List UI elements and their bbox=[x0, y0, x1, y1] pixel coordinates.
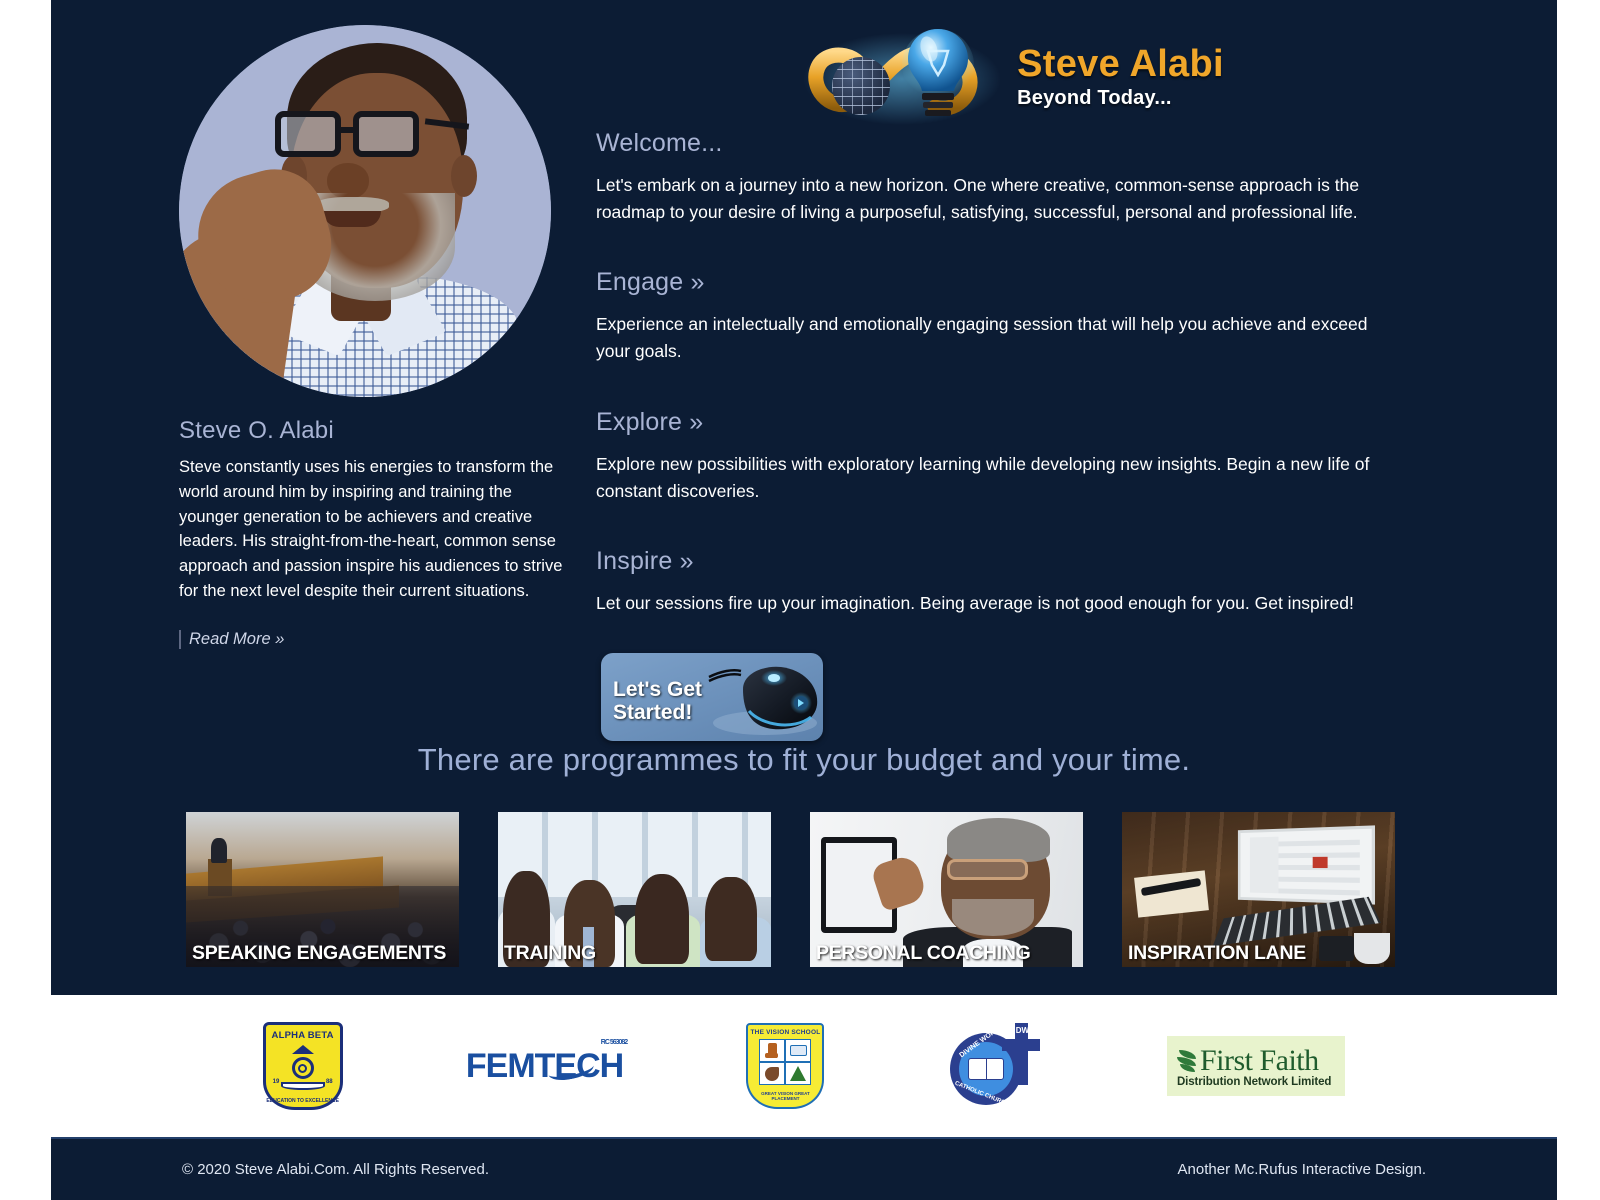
book-icon bbox=[281, 1082, 325, 1090]
partner-logo-vision-school[interactable]: THE VISION SCHOOL GREAT VISION GREAT PLA… bbox=[746, 1023, 824, 1109]
section-welcome-body: Let's embark on a journey into a new hor… bbox=[596, 172, 1386, 226]
first-faith-logo-icon: First Faith Distribution Network Limited bbox=[1167, 1036, 1345, 1096]
programme-card-caption: TRAINING bbox=[504, 942, 596, 965]
programme-card-caption: SPEAKING ENGAGEMENTS bbox=[192, 942, 446, 965]
avatar bbox=[179, 25, 551, 397]
programme-cards: SPEAKING ENGAGEMENTS TRAINING PE bbox=[186, 812, 1431, 967]
partner-logos: ALPHA BETA 19 88 EDUCATION TO EXCELLENCE… bbox=[51, 995, 1557, 1137]
section-welcome-heading: Welcome... bbox=[596, 129, 1426, 158]
brand-name: Steve Alabi bbox=[1017, 45, 1224, 85]
content-column: Steve Alabi Beyond Today... Welcome... L… bbox=[596, 0, 1426, 741]
section-inspire-heading[interactable]: Inspire » bbox=[596, 547, 1426, 576]
profile-bio: Steve constantly uses his energies to tr… bbox=[179, 455, 571, 604]
programme-card-caption: INSPIRATION LANE bbox=[1128, 942, 1306, 965]
brand-text: Steve Alabi Beyond Today... bbox=[1017, 45, 1224, 110]
site-logo[interactable]: Steve Alabi Beyond Today... bbox=[596, 0, 1426, 125]
profile-column: Steve O. Alabi Steve constantly uses his… bbox=[179, 25, 569, 649]
programme-card-caption: PERSONAL COACHING bbox=[816, 942, 1030, 965]
vision-school-shield-icon: THE VISION SCHOOL GREAT VISION GREAT PLA… bbox=[746, 1023, 824, 1109]
section-inspire: Inspire » Let our sessions fire up your … bbox=[596, 547, 1426, 617]
infinity-globe-lightbulb-icon bbox=[798, 19, 1003, 137]
section-engage: Engage » Experience an intelectually and… bbox=[596, 268, 1426, 365]
femtech-wordmark-icon: FEMTECH RC 563082 bbox=[466, 1047, 623, 1086]
vision-school-quadrants bbox=[759, 1039, 811, 1085]
lightbulb-icon bbox=[902, 25, 974, 129]
programme-card-training[interactable]: TRAINING bbox=[498, 812, 771, 967]
programme-card-personal-coaching[interactable]: PERSONAL COACHING bbox=[810, 812, 1083, 967]
section-explore: Explore » Explore new possibilities with… bbox=[596, 408, 1426, 505]
femtech-name: FEMTECH bbox=[466, 1047, 623, 1085]
hero-section: Steve O. Alabi Steve constantly uses his… bbox=[51, 0, 1557, 995]
computer-mouse-icon bbox=[707, 659, 823, 741]
lets-get-started-button[interactable]: Let's Get Started! bbox=[601, 653, 823, 741]
footer-credit: Another Mc.Rufus Interactive Design. bbox=[1178, 1161, 1426, 1178]
profile-name: Steve O. Alabi bbox=[179, 417, 569, 445]
alpha-beta-name: ALPHA BETA bbox=[272, 1030, 334, 1041]
first-faith-subtitle: Distribution Network Limited bbox=[1177, 1076, 1331, 1088]
alpha-beta-year-right: 88 bbox=[326, 1079, 333, 1085]
partner-logo-alpha-beta[interactable]: ALPHA BETA 19 88 EDUCATION TO EXCELLENCE bbox=[263, 1022, 343, 1110]
alpha-beta-shield-icon: ALPHA BETA 19 88 EDUCATION TO EXCELLENCE bbox=[263, 1022, 343, 1110]
partner-logo-first-faith[interactable]: First Faith Distribution Network Limited bbox=[1167, 1036, 1345, 1096]
section-engage-body: Experience an intelectually and emotiona… bbox=[596, 311, 1386, 365]
vision-school-name: THE VISION SCHOOL bbox=[751, 1029, 821, 1036]
lets-get-started-label: Let's Get Started! bbox=[613, 679, 702, 724]
open-book-icon bbox=[790, 1045, 807, 1056]
programmes-headline: There are programmes to fit your budget … bbox=[51, 742, 1557, 778]
section-welcome: Welcome... Let's embark on a journey int… bbox=[596, 129, 1426, 226]
programme-card-speaking-engagements[interactable]: SPEAKING ENGAGEMENTS bbox=[186, 812, 459, 967]
section-explore-body: Explore new possibilities with explorato… bbox=[596, 451, 1386, 505]
footer-copyright: © 2020 Steve Alabi.Com. All Rights Reser… bbox=[182, 1161, 489, 1178]
partner-logo-femtech[interactable]: FEMTECH RC 563082 bbox=[466, 1047, 623, 1086]
alpha-beta-motto: EDUCATION TO EXCELLENCE bbox=[266, 1098, 340, 1104]
open-bible-icon bbox=[968, 1058, 1004, 1080]
tree-icon bbox=[790, 1066, 806, 1081]
ring-icon bbox=[292, 1057, 314, 1079]
partner-logo-divine-word[interactable]: DWCC DIVINE WORD CATHOLIC CHURCH, JUBA bbox=[948, 1023, 1044, 1109]
first-faith-name: First Faith bbox=[1200, 1044, 1319, 1078]
section-engage-heading[interactable]: Engage » bbox=[596, 268, 1426, 297]
section-inspire-body: Let our sessions fire up your imaginatio… bbox=[596, 590, 1386, 617]
praying-figure-icon bbox=[765, 1067, 779, 1081]
alpha-beta-year-left: 19 bbox=[273, 1079, 280, 1085]
section-explore-heading[interactable]: Explore » bbox=[596, 408, 1426, 437]
site-footer: © 2020 Steve Alabi.Com. All Rights Reser… bbox=[51, 1137, 1557, 1200]
globe-icon bbox=[832, 57, 890, 115]
read-more-link[interactable]: Read More » bbox=[179, 630, 284, 649]
page-root: Steve O. Alabi Steve constantly uses his… bbox=[0, 0, 1600, 1200]
divine-word-emblem-icon: DWCC DIVINE WORD CATHOLIC CHURCH, JUBA bbox=[948, 1023, 1044, 1109]
steve-alabi-portrait-photo bbox=[179, 25, 551, 397]
site-canvas: Steve O. Alabi Steve constantly uses his… bbox=[51, 0, 1557, 1200]
leaf-icon bbox=[1177, 1048, 1199, 1074]
divine-word-initials: DWCC bbox=[1016, 1025, 1026, 1037]
boot-icon bbox=[768, 1043, 777, 1058]
graduation-cap-icon bbox=[292, 1045, 314, 1054]
programme-card-inspiration-lane[interactable]: INSPIRATION LANE bbox=[1122, 812, 1395, 967]
vision-school-motto: GREAT VISION GREAT PLACEMENT bbox=[748, 1091, 822, 1101]
femtech-registered-mark: RC 563082 bbox=[601, 1039, 627, 1046]
brand-tagline: Beyond Today... bbox=[1017, 87, 1224, 110]
